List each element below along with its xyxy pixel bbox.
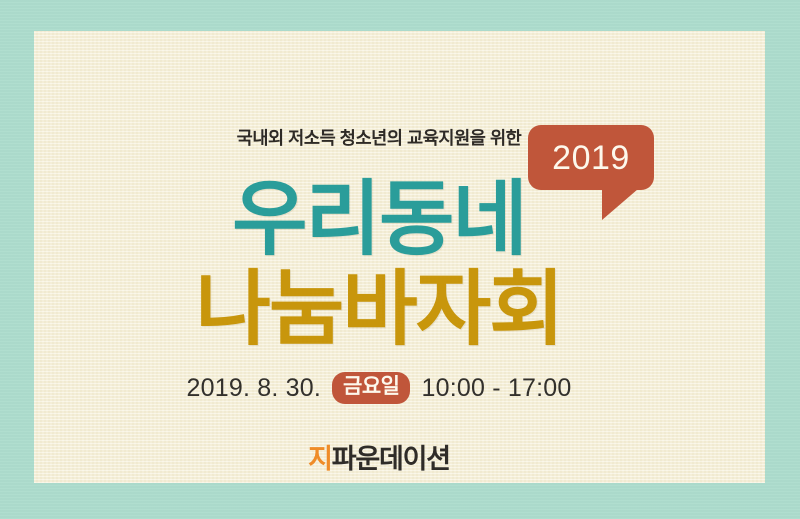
logo-mark-character: 지 [308, 444, 332, 474]
poster-root: 국내외 저소득 청소년의 교육지원을 위한 2019 우리동네 나눔바자회 20… [0, 0, 800, 519]
event-day-badge: 금요일 [332, 372, 410, 404]
poster-content: 국내외 저소득 청소년의 교육지원을 위한 2019 우리동네 나눔바자회 20… [34, 31, 765, 483]
headline-line-2: 나눔바자회 [34, 269, 724, 351]
organization-logo: 지파운데이션 [34, 437, 724, 476]
event-date: 2019. 8. 30. [187, 374, 321, 403]
headline-line-1: 우리동네 [34, 179, 724, 261]
event-time: 10:00 - 17:00 [421, 374, 571, 403]
poster-inner-panel: 국내외 저소득 청소년의 교육지원을 위한 2019 우리동네 나눔바자회 20… [34, 31, 765, 483]
logo-word: 파운데이션 [332, 444, 450, 474]
event-info-row: 2019. 8. 30. 금요일 10:00 - 17:00 [34, 372, 724, 404]
